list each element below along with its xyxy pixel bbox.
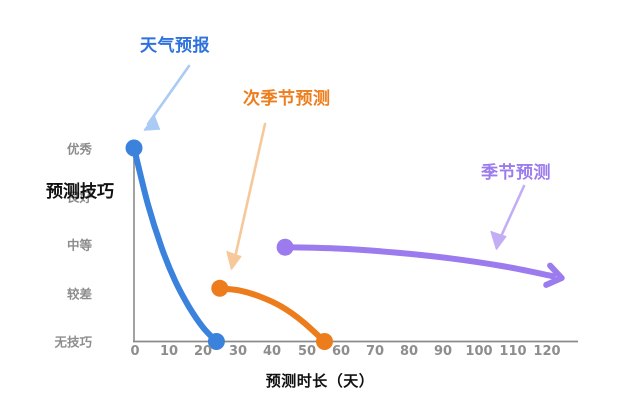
y-tick-medium: 中等 <box>67 235 92 254</box>
x-tick-40: 40 <box>263 344 281 359</box>
weather-annotation-arrow <box>145 66 190 130</box>
x-tick-110: 110 <box>499 344 526 359</box>
series-seasonal <box>277 239 562 285</box>
subseasonal-arrow-head <box>227 251 241 269</box>
x-tick-20: 20 <box>194 344 212 359</box>
annotation-arrows <box>145 66 525 269</box>
y-tick-poor: 较差 <box>67 284 92 303</box>
x-tick-50: 50 <box>298 344 316 359</box>
y-tick-noskill: 无技巧 <box>54 332 92 351</box>
series-weather <box>126 140 225 351</box>
forecast-skill-chart: 0 10 20 30 40 50 60 70 80 90 100 110 120… <box>0 0 640 414</box>
x-tick-100: 100 <box>465 344 492 359</box>
y-axis-title: 预测技巧 <box>46 183 68 201</box>
seasonal-annotation-arrow <box>491 186 524 249</box>
subseasonal-arrow-shaft <box>234 124 265 262</box>
y-tick-excellent: 优秀 <box>67 139 92 158</box>
seasonal-start-marker <box>277 239 294 256</box>
subseasonal-start-marker <box>211 280 228 297</box>
seasonal-arrow-shaft <box>498 186 524 243</box>
x-tick-80: 80 <box>400 344 418 359</box>
seasonal-curve <box>285 247 553 276</box>
subseasonal-end-marker <box>316 333 333 350</box>
seasonal-arrow-head <box>491 231 506 249</box>
x-tick-0: 0 <box>130 344 139 359</box>
series-subseasonal <box>211 280 333 350</box>
x-tick-30: 30 <box>229 344 247 359</box>
x-tick-120: 120 <box>533 344 560 359</box>
x-tick-10: 10 <box>160 344 178 359</box>
weather-curve <box>134 148 216 342</box>
x-tick-60: 60 <box>332 344 350 359</box>
series-label-weather: 天气预报 <box>140 31 210 56</box>
series-label-subseasonal: 次季节预测 <box>243 84 331 109</box>
subseasonal-annotation-arrow <box>227 124 265 269</box>
weather-arrow-shaft <box>148 66 189 124</box>
series-label-seasonal: 季节预测 <box>481 158 551 183</box>
subseasonal-curve <box>220 288 325 341</box>
x-tick-90: 90 <box>434 344 452 359</box>
x-tick-70: 70 <box>366 344 384 359</box>
weather-start-marker <box>126 140 143 157</box>
x-axis-title: 预测时长（天） <box>0 370 640 391</box>
